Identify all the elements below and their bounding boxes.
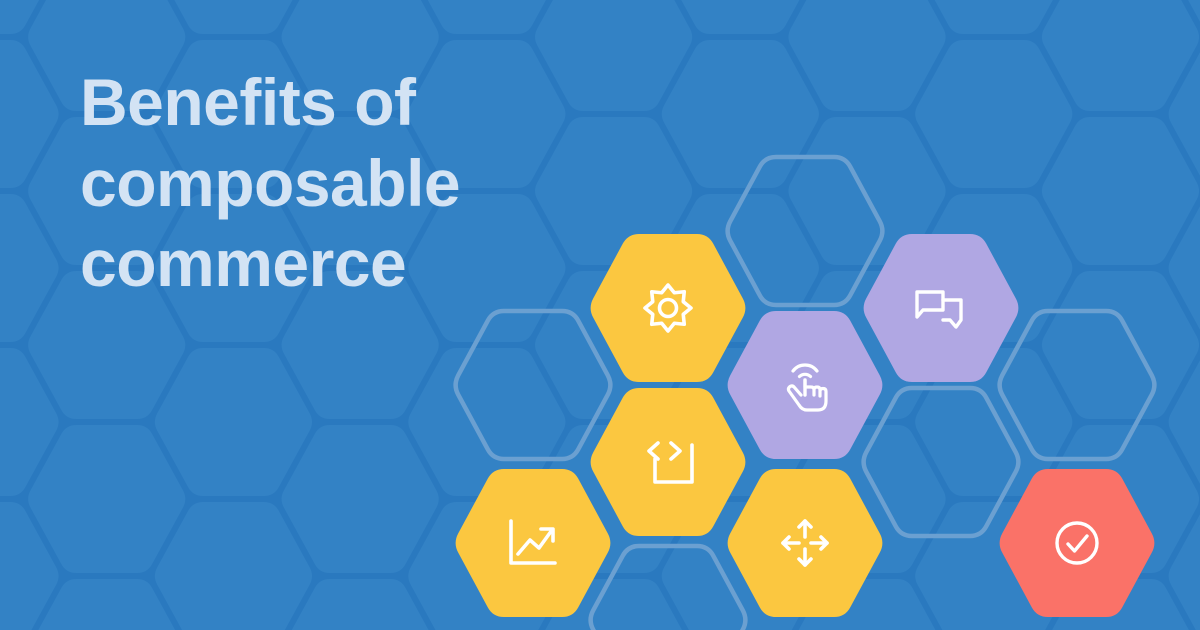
composable-commerce-banner: Benefits of composable commerce [0,0,1200,630]
hexagon-outline-right [1000,311,1155,459]
hexagon-outline-left [456,311,611,459]
page-title: Benefits of composable commerce [80,62,600,304]
hexagon-outline-midright [864,388,1019,536]
hexagon-code [591,388,746,536]
hexagon-check [1000,469,1155,617]
hexagon-outline-top [728,157,883,305]
hexagon-outline-bottom [591,546,746,630]
hexagon-expand [728,469,883,617]
hexagon-settings [591,234,746,382]
hexagon-chat [864,234,1019,382]
